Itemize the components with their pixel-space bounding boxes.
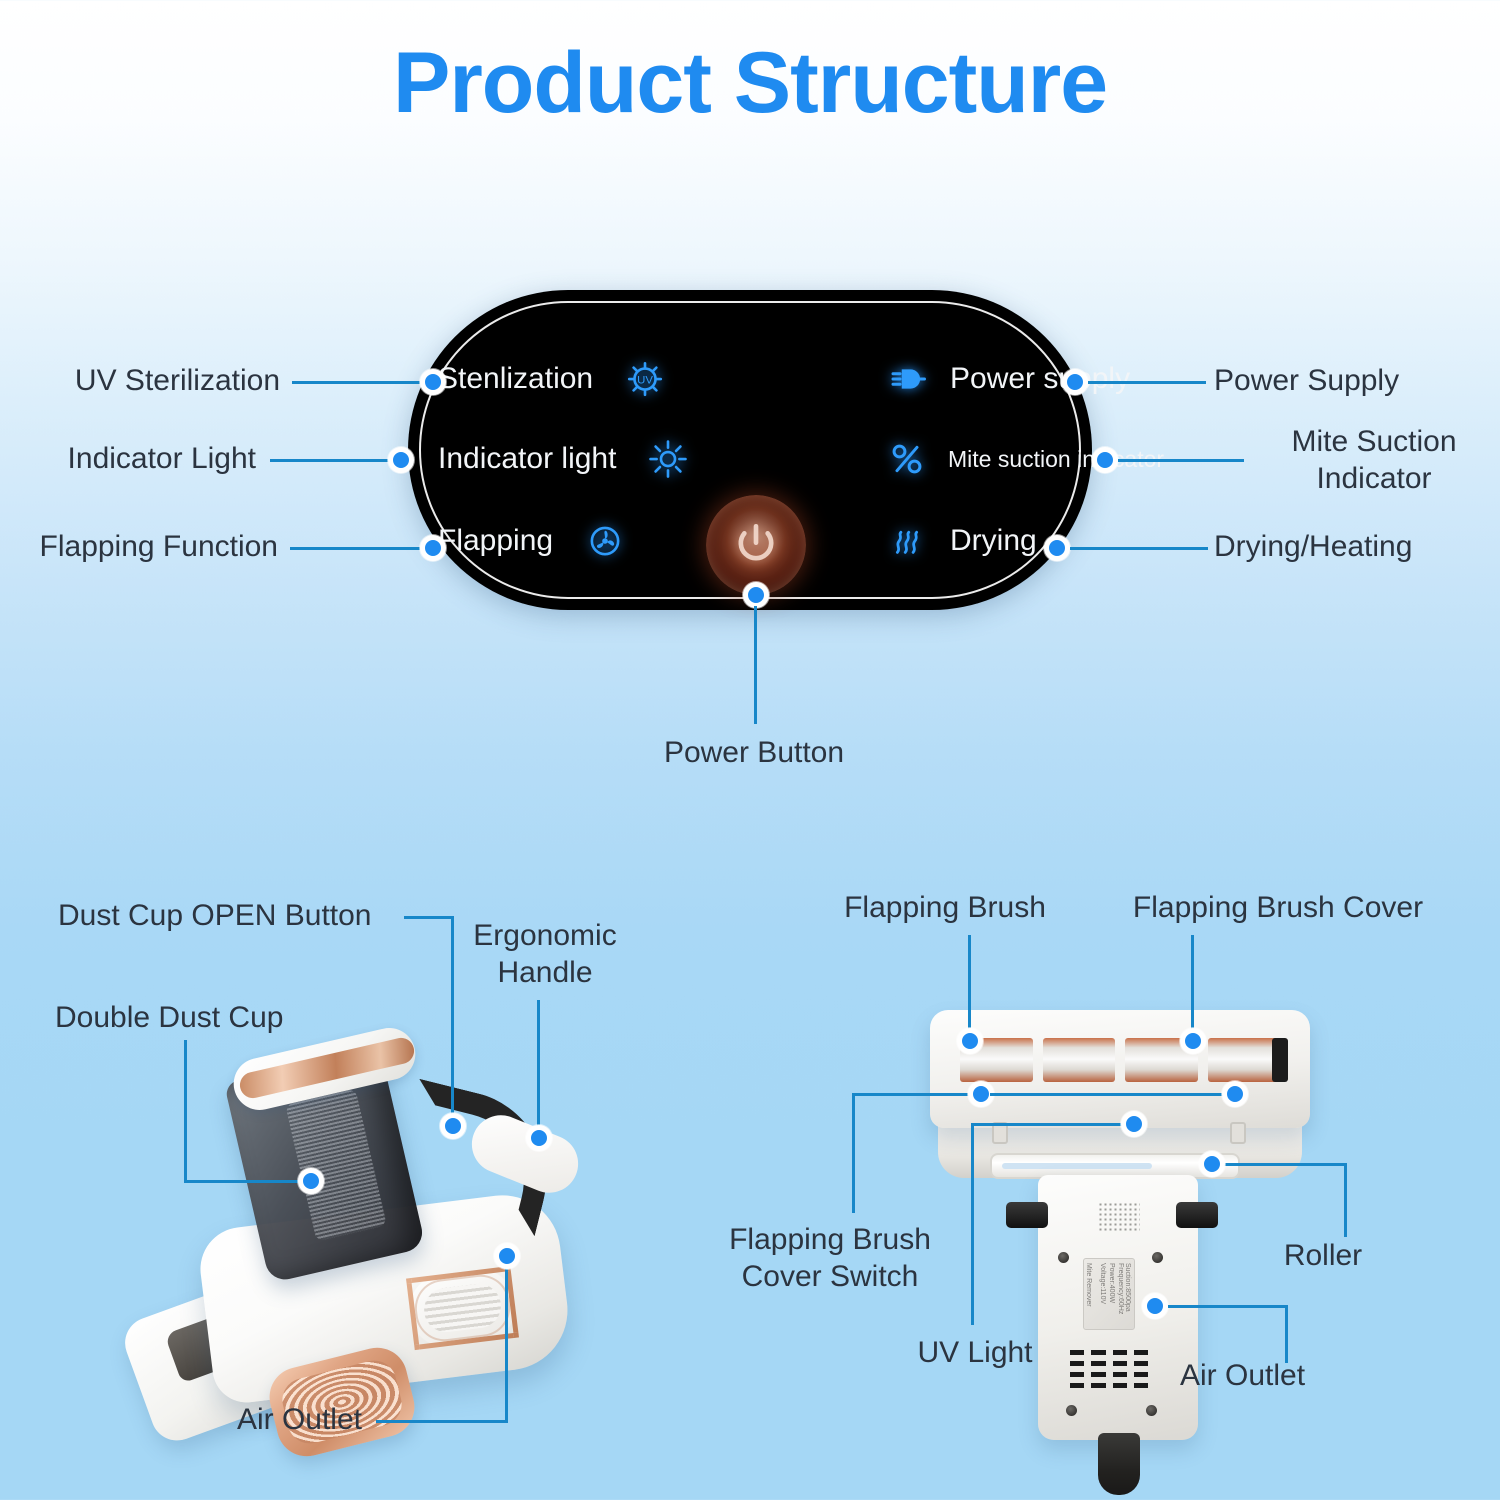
callout-line-double-dust-cup-h [184, 1180, 306, 1183]
callout-dust-cup-open-button: Dust Cup OPEN Button [58, 898, 458, 935]
callout-line-air-outlet-left-v [505, 1265, 508, 1423]
callout-drying-heating: Drying/Heating [1214, 529, 1500, 566]
callout-line-air-outlet-left-h [376, 1420, 508, 1423]
power-icon [728, 517, 784, 573]
callout-line-power-button [754, 606, 757, 724]
rating-label-plate: Mite Remover Voltage:110V Power:400W Fre… [1083, 1258, 1135, 1330]
callout-line-roller-h [1222, 1163, 1347, 1166]
panel-row-power-supply: Power supply [878, 356, 1130, 402]
panel-row-indicator-light: Indicator light [438, 436, 698, 482]
callout-air-outlet-left: Air Outlet [150, 1402, 362, 1439]
callout-mite-suction-indicator: Mite Suction Indicator [1248, 424, 1500, 497]
plug-icon [878, 356, 936, 402]
callout-dot-mite-suction-indicator[interactable] [1092, 447, 1118, 473]
brush-end-cap [1272, 1038, 1288, 1082]
callout-line-mite-suction-indicator [1118, 459, 1244, 462]
callout-line-power-supply [1088, 381, 1206, 384]
callout-indicator-light: Indicator Light [0, 441, 256, 478]
callout-uv-light: UV Light [880, 1335, 1070, 1372]
power-cord-stem [1098, 1433, 1140, 1495]
percent-icon [878, 436, 936, 482]
panel-row-drying: Drying [878, 518, 1037, 564]
callout-dot-power-supply[interactable] [1062, 369, 1088, 395]
callout-dot-roller[interactable] [1199, 1151, 1225, 1177]
callout-dot-ergonomic-handle[interactable] [526, 1125, 552, 1151]
plate-line-5: Suction:8500pa [1124, 1263, 1131, 1312]
callout-line-flapping-brush-cover [1191, 935, 1194, 1035]
bottom-air-outlet-vents [1070, 1350, 1148, 1390]
sun-icon [638, 436, 698, 482]
callout-power-supply: Power Supply [1214, 363, 1500, 400]
callout-ergonomic-handle: Ergonomic Handle [440, 918, 650, 991]
callout-flapping-brush-cover-switch: Flapping Brush Cover Switch [700, 1222, 960, 1295]
callout-line-cover-switch-h-right [990, 1093, 1228, 1096]
vent-column [1070, 1350, 1084, 1390]
product-image-front-view [150, 1035, 620, 1455]
vent-column [1134, 1350, 1148, 1390]
flapping-brush-slots [960, 1038, 1280, 1082]
callout-flapping-function: Flapping Function [0, 529, 278, 566]
heat-waves-icon [878, 518, 936, 564]
callout-line-indicator-light [270, 459, 390, 462]
panel-label-power-supply: Power supply [950, 362, 1130, 396]
callout-line-double-dust-cup-v [184, 1040, 187, 1182]
screw [1146, 1405, 1157, 1416]
plate-line-2: Voltage:110V [1099, 1263, 1106, 1304]
svg-text:UV: UV [637, 374, 653, 386]
screw [1058, 1252, 1069, 1263]
callout-dot-flapping-function[interactable] [420, 535, 446, 561]
speaker-mesh [1098, 1202, 1140, 1232]
callout-flapping-brush-cover: Flapping Brush Cover [1108, 890, 1448, 927]
callout-power-button: Power Button [604, 735, 904, 772]
callout-line-flapping-brush [968, 935, 971, 1035]
callout-dot-double-dust-cup[interactable] [298, 1168, 324, 1194]
panel-label-drying: Drying [950, 524, 1037, 558]
callout-dot-power-button[interactable] [743, 582, 769, 608]
flapping-brush-cover-switch-right[interactable] [1230, 1122, 1246, 1144]
callout-dot-cover-switch-right[interactable] [1222, 1081, 1248, 1107]
infographic-canvas: Product Structure Stenlization UV Indica… [0, 0, 1500, 1500]
callout-line-air-outlet-right-v [1285, 1305, 1288, 1363]
page-title: Product Structure [0, 40, 1500, 126]
callout-dot-air-outlet-left[interactable] [494, 1243, 520, 1269]
panel-label-indicator-light: Indicator light [438, 442, 616, 476]
callout-dot-uv-sterilization[interactable] [420, 369, 446, 395]
callout-dot-flapping-brush[interactable] [957, 1028, 983, 1054]
callout-double-dust-cup: Double Dust Cup [55, 1000, 385, 1037]
callout-line-uv-light-v [971, 1125, 974, 1325]
callout-dot-uv-light[interactable] [1121, 1111, 1147, 1137]
fan-icon [575, 518, 635, 564]
callout-air-outlet-right: Air Outlet [1180, 1358, 1420, 1395]
callout-dot-drying-heating[interactable] [1044, 535, 1070, 561]
callout-flapping-brush: Flapping Brush [820, 890, 1070, 927]
callout-dot-flapping-brush-cover[interactable] [1180, 1028, 1206, 1054]
plate-line-3: Power:400W [1108, 1263, 1115, 1303]
callout-line-drying-heating [1070, 547, 1208, 550]
callout-line-cover-switch-h-left [852, 1093, 980, 1096]
callout-dot-air-outlet-right[interactable] [1142, 1293, 1168, 1319]
callout-dot-dust-cup-open-button[interactable] [440, 1113, 466, 1139]
roller-right [1176, 1202, 1218, 1228]
plate-line-4: Frequency:60Hz [1117, 1263, 1124, 1314]
panel-label-flapping: Flapping [438, 524, 553, 558]
screw [1066, 1405, 1077, 1416]
roller-left [1006, 1202, 1048, 1228]
uv-icon: UV [615, 356, 675, 402]
panel-label-sterilization: Stenlization [438, 362, 593, 396]
flapping-brush-bar [930, 1010, 1310, 1128]
brush-slot [1208, 1038, 1281, 1082]
callout-line-air-outlet-right-h [1168, 1305, 1288, 1308]
screw [1152, 1252, 1163, 1263]
callout-line-roller-v [1344, 1165, 1347, 1237]
plate-line-1: Mite Remover [1085, 1263, 1092, 1307]
callout-dot-indicator-light[interactable] [388, 447, 414, 473]
panel-row-sterilization: Stenlization UV [438, 356, 675, 402]
callout-line-ergonomic-handle [537, 1000, 540, 1132]
callout-line-cover-switch-v [852, 1095, 855, 1213]
callout-uv-sterilization: UV Sterilization [0, 363, 280, 400]
panel-row-flapping: Flapping [438, 518, 635, 564]
callout-roller: Roller [1228, 1238, 1418, 1275]
brush-slot [1043, 1038, 1116, 1082]
power-button[interactable] [706, 495, 806, 595]
callout-line-uv-sterilization [292, 381, 420, 384]
vent-column [1091, 1350, 1105, 1390]
vent-column [1113, 1350, 1127, 1390]
callout-line-uv-light-h [971, 1123, 1129, 1126]
callout-line-flapping-function [290, 547, 420, 550]
